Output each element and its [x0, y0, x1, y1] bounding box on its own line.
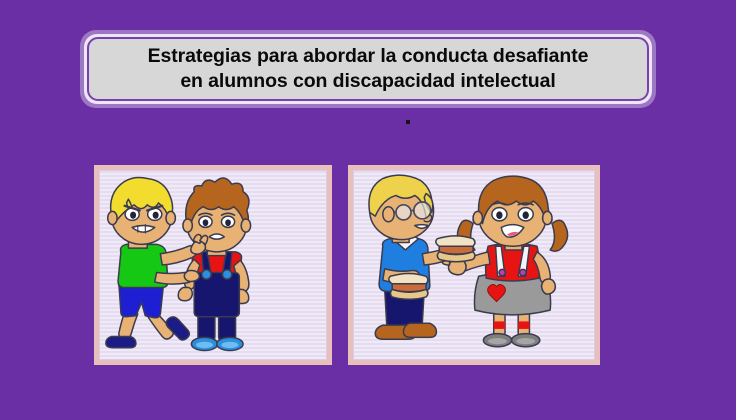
image-panel-sharing-inner — [353, 170, 595, 360]
slide-canvas: Estrategias para abordar la conducta des… — [0, 0, 736, 420]
stray-dot-artifact — [406, 120, 410, 124]
illustration-pushing-scene — [100, 171, 326, 359]
title-box: Estrategias para abordar la conducta des… — [80, 30, 656, 108]
image-panel-sharing-behavior — [348, 165, 600, 365]
title-box-inner: Estrategias para abordar la conducta des… — [87, 37, 649, 101]
title-box-highlight-ring: Estrategias para abordar la conducta des… — [84, 34, 652, 104]
illustration-sharing-scene — [354, 171, 594, 359]
page-title-line-2: en alumnos con discapacidad intelectual — [148, 69, 589, 94]
page-title: Estrategias para abordar la conducta des… — [148, 44, 589, 94]
image-panel-aggressive-behavior — [94, 165, 332, 365]
page-title-line-1: Estrategias para abordar la conducta des… — [148, 44, 589, 69]
image-panel-aggressive-inner — [99, 170, 327, 360]
